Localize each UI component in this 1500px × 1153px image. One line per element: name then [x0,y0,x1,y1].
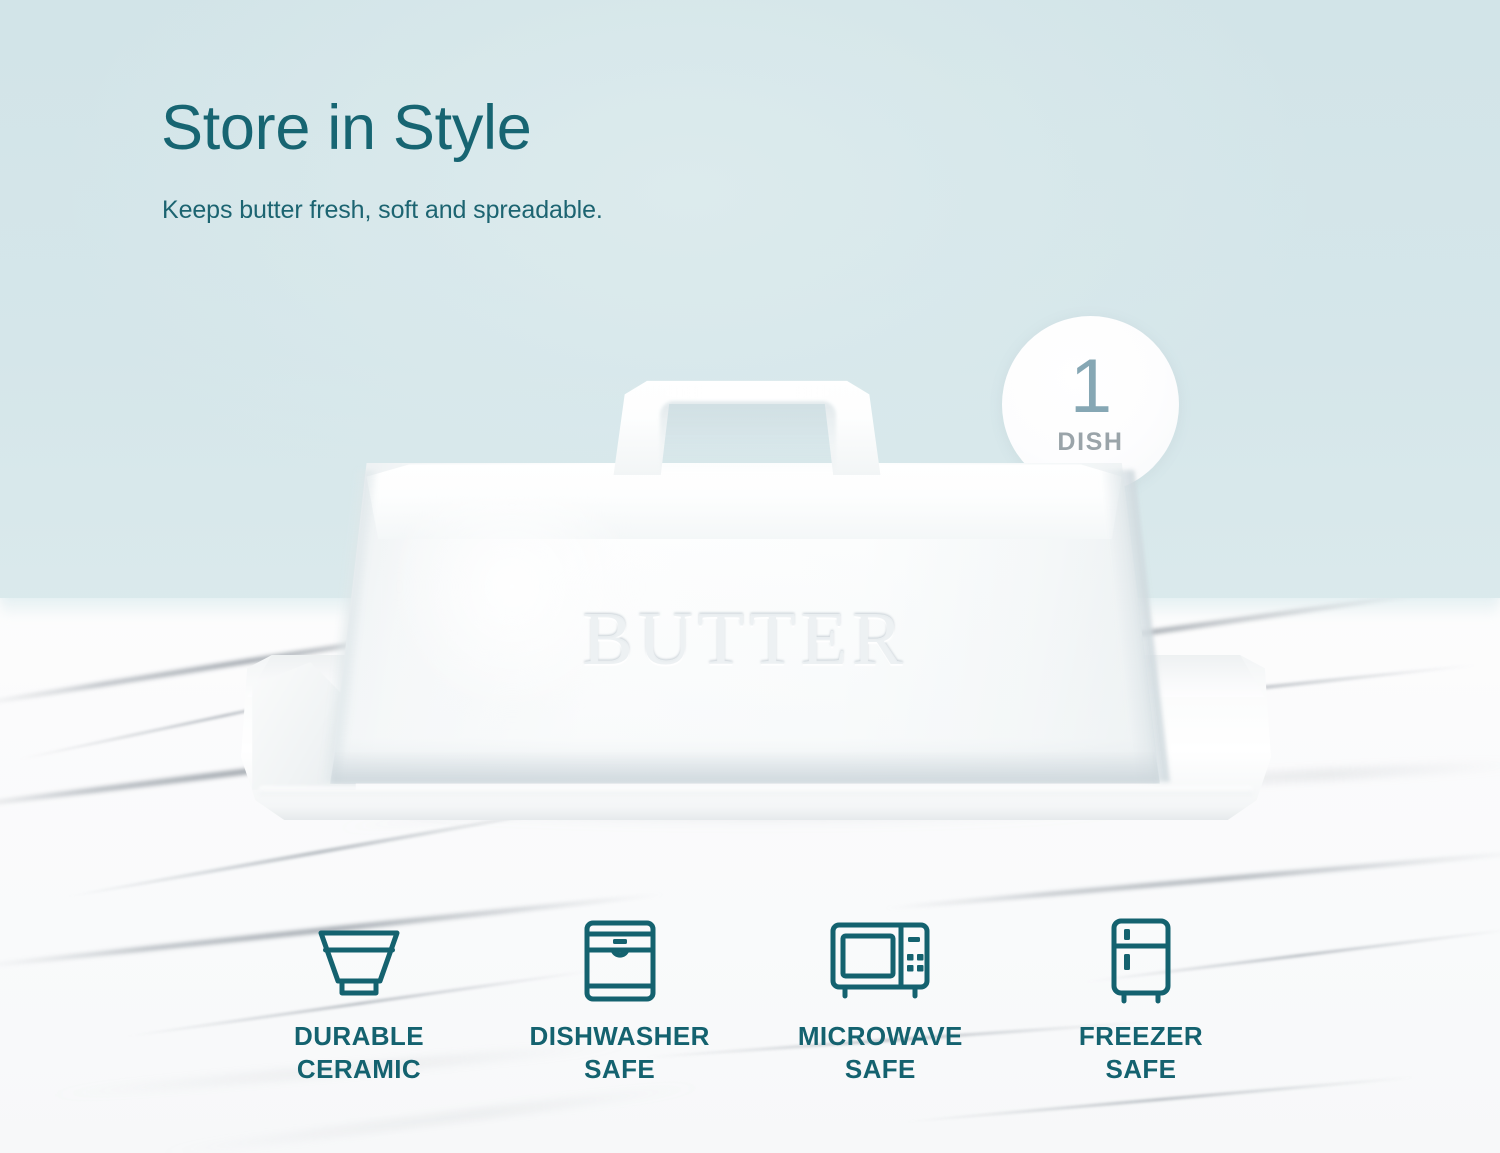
feature-label: FREEZER SAFE [1079,1020,1203,1087]
product-feature-image: Store in Style Keeps butter fresh, soft … [0,0,1500,1153]
feature-icon-row: DURABLE CERAMIC DISHWASHER SAFE [240,918,1260,1087]
feature-label: DURABLE CERAMIC [294,1020,424,1087]
feature-freezer-safe: FREEZER SAFE [1022,918,1260,1087]
feature-label: MICROWAVE SAFE [798,1020,963,1087]
feature-microwave-safe: MICROWAVE SAFE [761,918,999,1087]
dishwasher-icon [583,918,657,1004]
refrigerator-icon [1110,918,1172,1004]
feature-dishwasher-safe: DISHWASHER SAFE [501,918,739,1087]
embossed-butter-label: BUTTER [330,596,1160,683]
microwave-icon [829,918,931,1004]
bowl-icon [316,918,402,1004]
butter-dish-plate-rim-highlight [258,786,1254,795]
handle-highlight [628,387,866,399]
butter-dish-lid-base-shadow [330,752,1160,784]
handle-inner-shadow [660,401,836,475]
feature-durable-ceramic: DURABLE CERAMIC [240,918,478,1087]
feature-label: DISHWASHER SAFE [530,1020,710,1087]
butter-dish-lid-handle [608,379,886,475]
